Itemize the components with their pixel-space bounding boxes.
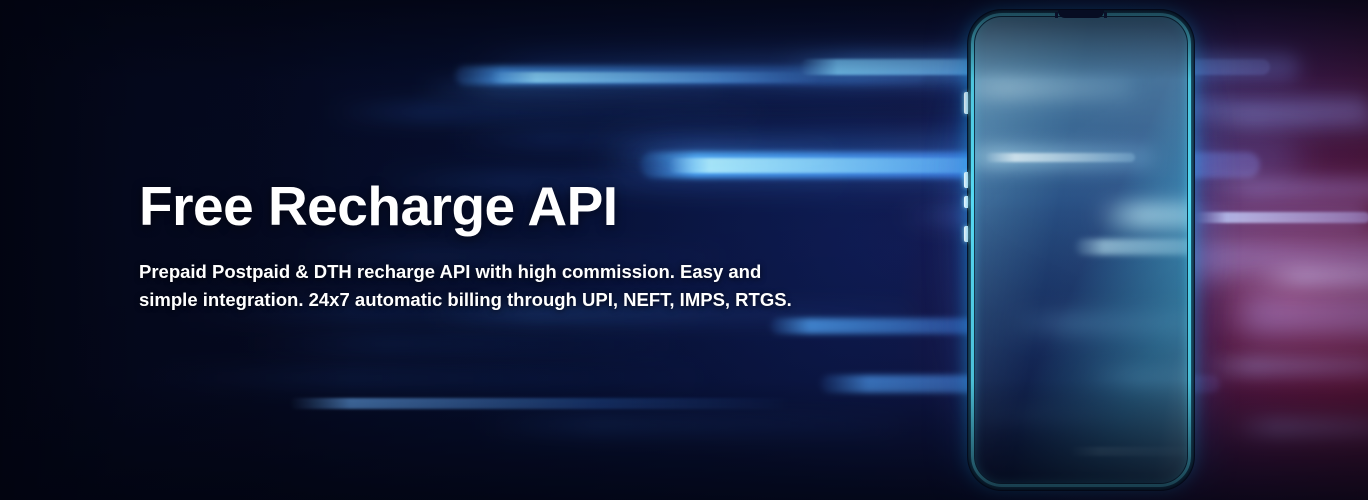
phone-notch-gap-left: [1055, 12, 1058, 18]
phone-body: [968, 10, 1194, 490]
light-streak: [455, 132, 755, 146]
phone-side-button: [964, 172, 968, 188]
phone-side-button: [964, 92, 968, 114]
light-streak: [1195, 212, 1368, 223]
light-streak: [1255, 268, 1368, 286]
page-title: Free Recharge API: [139, 178, 899, 236]
free-recharge-api-banner: Free Recharge API Prepaid Postpaid & DTH…: [0, 0, 1368, 500]
light-streak: [420, 82, 720, 95]
light-streak: [1215, 292, 1368, 336]
banner-subtitle-line-1: Prepaid Postpaid & DTH recharge API with…: [139, 258, 839, 286]
banner-subtitle-line-2: simple integration. 24x7 automatic billi…: [139, 286, 839, 314]
light-streak: [1230, 420, 1368, 436]
light-streak: [480, 416, 900, 436]
phone-side-button: [964, 196, 968, 208]
light-streak: [290, 398, 790, 409]
light-streak: [610, 146, 830, 160]
banner-text-block: Free Recharge API Prepaid Postpaid & DTH…: [139, 178, 899, 313]
light-streak: [1200, 358, 1368, 374]
smartphone-illustration: [968, 10, 1194, 490]
light-streak: [250, 336, 670, 352]
light-streak: [330, 104, 760, 120]
phone-notch: [1058, 10, 1104, 18]
banner-subtitle: Prepaid Postpaid & DTH recharge API with…: [139, 258, 839, 314]
light-streak: [140, 368, 700, 388]
phone-side-button: [964, 226, 968, 242]
phone-bezel: [971, 13, 1191, 487]
phone-notch-gap-right: [1104, 12, 1107, 18]
